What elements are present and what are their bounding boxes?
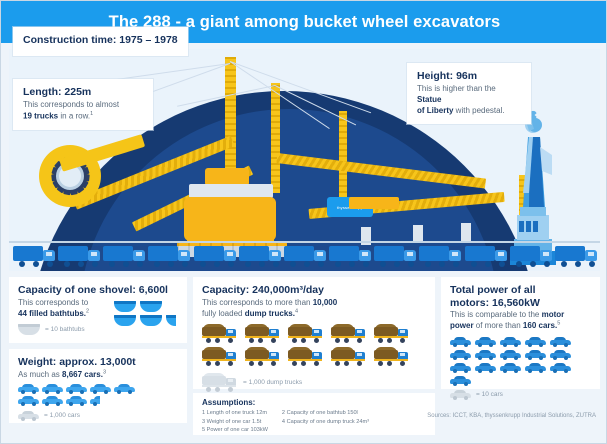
truck-row: [13, 243, 596, 267]
car-icon: [450, 337, 471, 347]
power-line1-bold: motor: [542, 310, 565, 319]
assumption-item: 1 Length of one truck 12m: [202, 409, 268, 418]
capacity-footnote: 4: [295, 308, 298, 314]
length-line2-rest: in a row.: [58, 111, 90, 120]
weight-line1-bold: 8,667 cars.: [62, 370, 103, 379]
power-footnote: 5: [557, 321, 560, 327]
length-text: This corresponds to almost 19 trucks in …: [23, 100, 143, 122]
dump-truck-icon: [374, 347, 410, 366]
car-icon: [500, 350, 521, 360]
dump-truck-icon: [245, 324, 281, 343]
power-legend-label: = 10 cars: [476, 391, 503, 398]
car-icon: [42, 396, 63, 406]
capacity-title: Capacity: 240,000m³/day: [202, 284, 426, 297]
weight-footnote: 3: [103, 369, 106, 375]
dump-truck-icon: [245, 347, 281, 366]
mini-truck: [239, 246, 280, 267]
machine-body: [184, 197, 276, 241]
shovel-footnote: 2: [86, 308, 89, 314]
assumption-item: 5 Power of one car 103kW: [202, 426, 268, 435]
car-icon: [525, 363, 546, 373]
capacity-legend-label: = 1,000 dump trucks: [243, 379, 302, 386]
length-title: Length: 225m: [23, 86, 143, 98]
weight-icon-grid: [18, 384, 178, 406]
machine-deck: [189, 184, 273, 198]
callout-construction-time: Construction time: 1975 – 1978: [13, 27, 188, 56]
car-icon: [550, 350, 571, 360]
mini-truck: [58, 246, 99, 267]
car-icon: [450, 390, 471, 400]
panel-assumptions: Assumptions: 1 Length of one truck 12m 3…: [193, 393, 435, 435]
panel-weight: Weight: approx. 13,000t As much as 8,667…: [9, 349, 187, 423]
capacity-line1: This corresponds to more than: [202, 298, 313, 307]
length-line1: This corresponds to almost: [23, 100, 119, 109]
dump-truck-icon: [288, 347, 324, 366]
mini-truck: [329, 246, 370, 267]
assumptions-right-column: 2 Capacity of one bathtub 150l 4 Capacit…: [282, 409, 369, 435]
power-line1: This is comparable to the: [450, 310, 542, 319]
car-icon: [42, 384, 63, 394]
mini-truck: [465, 246, 506, 267]
length-footnote: 1: [90, 111, 93, 117]
car-icon: [550, 337, 571, 347]
car-icon: [525, 350, 546, 360]
support-pylon: [461, 223, 471, 241]
height-text: This is higher than the Statue of Libert…: [417, 84, 521, 116]
callout-length: Length: 225m This corresponds to almost …: [13, 79, 153, 130]
car-icon: [18, 384, 39, 394]
panel-shovel-capacity: Capacity of one shovel: 6,600l This corr…: [9, 277, 187, 343]
car-icon: [66, 396, 87, 406]
car-icon: [475, 363, 496, 373]
weight-text: As much as 8,667 cars.3: [18, 369, 178, 380]
assumptions-left-column: 1 Length of one truck 12m 3 Weight of on…: [202, 409, 268, 435]
mini-truck: [194, 246, 235, 267]
car-icon: [66, 384, 87, 394]
assumption-item: 2 Capacity of one bathtub 150l: [282, 409, 369, 418]
infographic-root: The 288 - a giant among bucket wheel exc…: [0, 0, 607, 444]
assumption-item: 4 Capacity of one dump truck 24m³: [282, 418, 369, 427]
construction-title: Construction time: 1975 – 1978: [23, 34, 178, 46]
length-line2-bold: 19 trucks: [23, 111, 58, 120]
bathtub-icon-half: [166, 315, 176, 326]
dump-truck-icon: [374, 324, 410, 343]
counterweight: [349, 197, 399, 209]
assumptions-columns: 1 Length of one truck 12m 3 Weight of on…: [202, 409, 426, 435]
panel-total-power: Total power of all motors: 16,560kW This…: [441, 277, 600, 389]
power-line2-bold2: 160 cars.: [523, 321, 557, 330]
mini-truck: [103, 246, 144, 267]
power-legend: = 10 cars: [450, 390, 591, 400]
rear-mast: [339, 111, 347, 197]
mini-truck: [419, 246, 460, 267]
dump-truck-icon: [331, 324, 367, 343]
dump-truck-icon: [202, 347, 238, 366]
mini-truck: [374, 246, 415, 267]
shovel-line1: This corresponds to: [18, 298, 88, 307]
car-icon: [450, 350, 471, 360]
height-line1: This is higher than the: [417, 84, 496, 93]
mini-truck: [284, 246, 325, 267]
weight-title: Weight: approx. 13,000t: [18, 356, 178, 369]
power-title-line2: motors: 16,560kW: [450, 297, 540, 309]
secondary-mast: [271, 83, 280, 193]
capacity-legend: = 1,000 dump trucks: [202, 373, 426, 392]
height-line1-bold: Statue: [417, 95, 441, 104]
dump-truck-icon: [288, 324, 324, 343]
assumption-item: 3 Weight of one car 1.5t: [202, 418, 268, 427]
callout-height: Height: 96m This is higher than the Stat…: [407, 63, 531, 124]
power-text: This is comparable to the motor power of…: [450, 309, 591, 331]
height-line2-bold: of Liberty: [417, 106, 453, 115]
car-icon: [550, 363, 571, 373]
dump-truck-icon: [202, 324, 238, 343]
car-icon: [525, 337, 546, 347]
shovel-legend-label: = 10 bathtubs: [45, 326, 85, 333]
shovel-title: Capacity of one shovel: 6,600l: [18, 284, 178, 297]
sources-note: Sources: ICCT, KBA, thyssenkrupp Industr…: [427, 413, 596, 419]
shovel-line2-bold: 44 filled bathtubs.: [18, 309, 86, 318]
car-icon: [90, 384, 111, 394]
bathtub-icon: [114, 301, 136, 312]
car-icon: [475, 350, 496, 360]
car-icon: [450, 363, 471, 373]
bathtub-icon: [18, 324, 40, 335]
power-title-line1: Total power of all: [450, 284, 536, 296]
mini-truck: [555, 246, 596, 267]
height-title: Height: 96m: [417, 70, 521, 82]
dump-truck-icon: [202, 373, 238, 392]
capacity-text: This corresponds to more than 10,000 ful…: [202, 297, 426, 319]
bathtub-icon: [140, 301, 162, 312]
capacity-line2: fully loaded: [202, 309, 245, 318]
mini-truck: [13, 246, 54, 267]
panel-capacity: Capacity: 240,000m³/day This corresponds…: [193, 277, 435, 389]
car-icon: [18, 411, 39, 421]
car-icon: [500, 363, 521, 373]
capacity-line1-bold: 10,000: [313, 298, 337, 307]
height-line2-rest: with pedestal.: [453, 106, 504, 115]
car-icon: [500, 337, 521, 347]
dump-truck-icon: [331, 347, 367, 366]
shovel-icon-grid: [114, 301, 186, 326]
car-icon: [450, 376, 471, 386]
bathtub-icon: [140, 315, 162, 326]
weight-legend-label: = 1,000 cars: [44, 412, 80, 419]
weight-legend: = 1,000 cars: [18, 411, 178, 421]
assumptions-title: Assumptions:: [202, 398, 426, 407]
car-icon: [18, 396, 39, 406]
power-line2-bold: power: [450, 321, 474, 330]
capacity-icon-grid: [202, 324, 426, 366]
capacity-line2-bold: dump trucks.: [245, 309, 295, 318]
car-icon: [475, 337, 496, 347]
power-icon-grid: [450, 337, 591, 386]
car-icon-half: [90, 396, 100, 406]
weight-line1: As much as: [18, 370, 62, 379]
car-icon: [114, 384, 135, 394]
bathtub-icon: [114, 315, 136, 326]
power-line2-rest: of more than: [474, 321, 523, 330]
mini-truck: [148, 246, 189, 267]
mini-truck: [510, 246, 551, 267]
power-title: Total power of all motors: 16,560kW: [450, 284, 591, 309]
